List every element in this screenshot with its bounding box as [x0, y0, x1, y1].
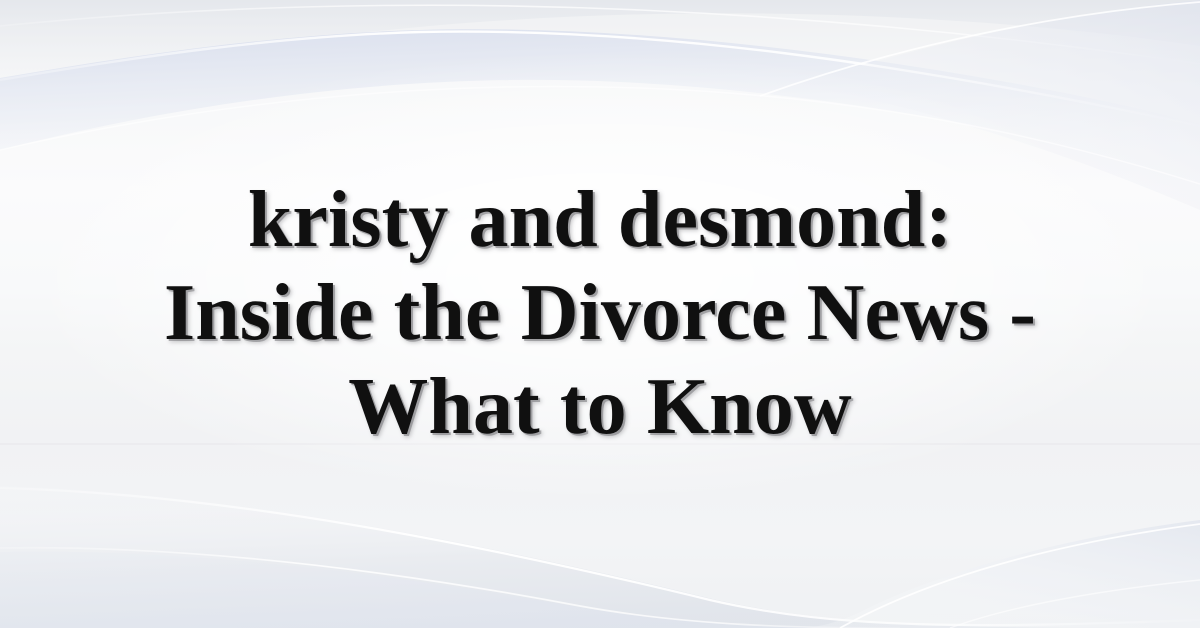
headline-container: kristy and desmond: Inside the Divorce N… [0, 0, 1200, 628]
page-title: kristy and desmond: Inside the Divorce N… [150, 174, 1050, 455]
social-share-card: kristy and desmond: Inside the Divorce N… [0, 0, 1200, 628]
